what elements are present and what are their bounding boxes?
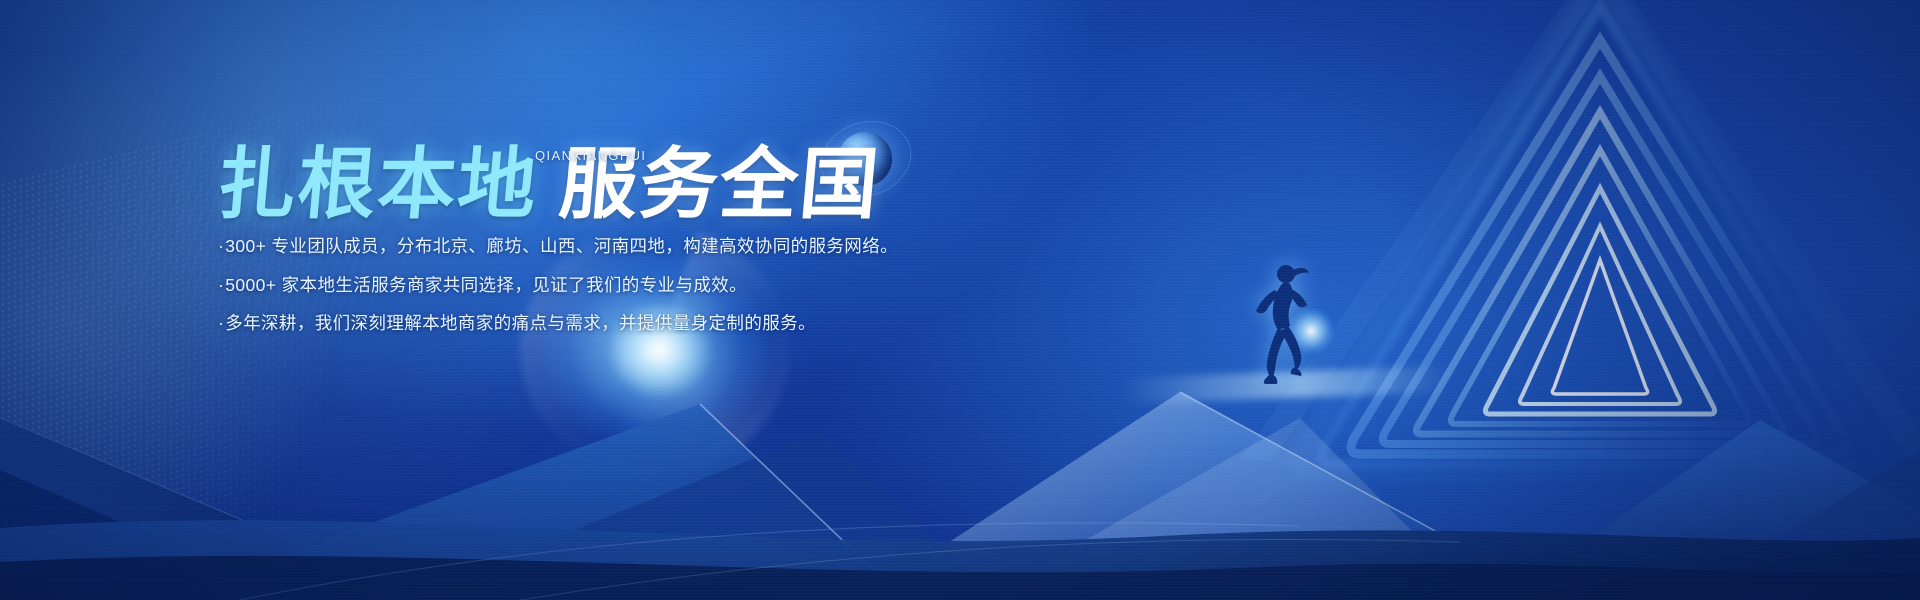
bullet-marker: · (218, 236, 224, 256)
bullet-text: 5000+ 家本地生活服务商家共同选择，见证了我们的专业与成效。 (225, 275, 747, 295)
headline-primary: 扎根本地 (215, 145, 542, 223)
banner-content: 扎根本地 服务全国 QIANXIANGHUI ·300+ 专业团队成员，分布北京… (0, 0, 1920, 600)
headline-pinyin: QIANXIANGHUI (535, 148, 646, 163)
bullet-item: ·5000+ 家本地生活服务商家共同选择，见证了我们的专业与成效。 (218, 277, 898, 295)
bullet-item: ·300+ 专业团队成员，分布北京、廊坊、山西、河南四地，构建高效协同的服务网络… (218, 238, 898, 256)
bullet-marker: · (218, 313, 224, 333)
bullet-text: 多年深耕，我们深刻理解本地商家的痛点与需求，并提供量身定制的服务。 (225, 313, 816, 333)
hero-banner: 扎根本地 服务全国 QIANXIANGHUI ·300+ 专业团队成员，分布北京… (0, 0, 1920, 600)
bullet-marker: · (218, 275, 224, 295)
bullet-list: ·300+ 专业团队成员，分布北京、廊坊、山西、河南四地，构建高效协同的服务网络… (218, 238, 898, 354)
bullet-text: 300+ 专业团队成员，分布北京、廊坊、山西、河南四地，构建高效协同的服务网络。 (225, 236, 898, 256)
bullet-item: ·多年深耕，我们深刻理解本地商家的痛点与需求，并提供量身定制的服务。 (218, 315, 898, 333)
